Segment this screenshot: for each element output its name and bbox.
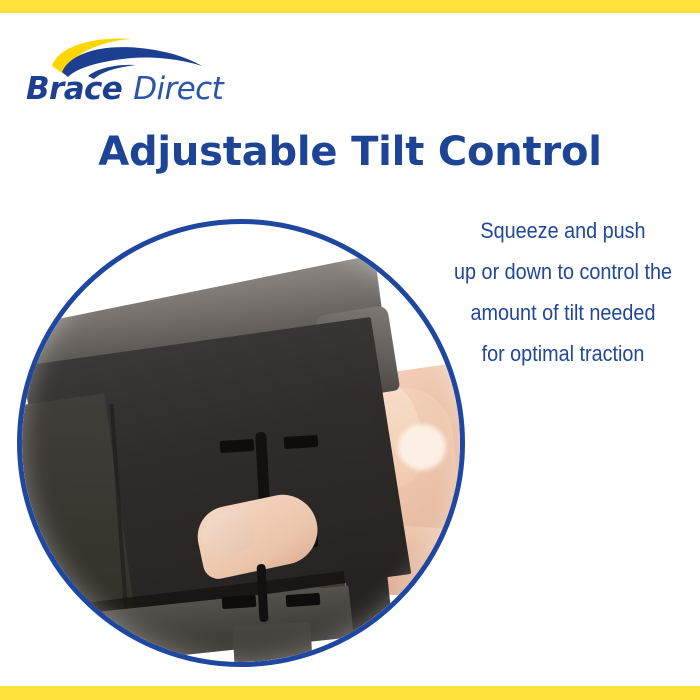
device-slot-top-left (220, 439, 255, 453)
hand-highlight (398, 424, 446, 470)
page-title: Adjustable Tilt Control (0, 129, 700, 175)
description-line-4: for optimal traction (445, 333, 681, 374)
description-line-3: amount of tilt needed (445, 292, 681, 333)
device-slot-top-right (284, 435, 319, 449)
device-slot-bottom-left (222, 595, 257, 609)
brace-direct-logo[interactable]: BraceDirect (26, 36, 226, 102)
description-line-1: Squeeze and push (445, 210, 681, 251)
logo-wordmark: BraceDirect (26, 74, 223, 105)
description-line-2: up or down to control the (445, 251, 681, 292)
product-photo-circle (17, 219, 465, 667)
description-text: Squeeze and push up or down to control t… (432, 210, 694, 374)
top-accent-bar (0, 0, 700, 13)
promo-graphic: BraceDirect Adjustable Tilt Control Sque… (0, 0, 700, 700)
product-photo-image (22, 224, 460, 662)
logo-word-direct: Direct (133, 71, 223, 107)
logo-word-brace: Brace (26, 71, 122, 107)
bottom-accent-bar (0, 686, 700, 700)
device-slot-bottom-right (286, 593, 321, 607)
device-bottom-tab (232, 622, 313, 662)
